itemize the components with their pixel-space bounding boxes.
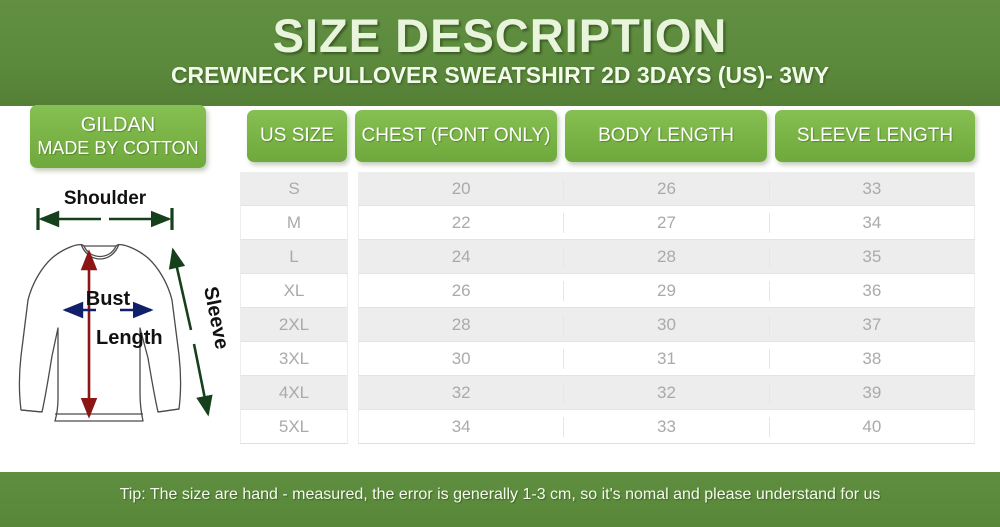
cell-sleeve-length: 33 (769, 179, 974, 199)
cell-chest: 34 (359, 417, 563, 437)
table-row: XL (240, 274, 348, 308)
footer-band: Tip: The size are hand - measured, the e… (0, 472, 1000, 527)
column-header-sleeve-length: SLEEVE LENGTH (775, 110, 975, 162)
sleeve-measure: Sleeve (173, 250, 233, 414)
cell-size: L (241, 247, 347, 267)
page-title: SIZE DESCRIPTION (0, 8, 1000, 63)
bust-label: Bust (86, 288, 131, 310)
cell-body-length: 32 (563, 383, 768, 403)
cell-body-length: 28 (563, 247, 768, 267)
sleeve-label: Sleeve (199, 285, 233, 351)
cell-size: 3XL (241, 349, 347, 369)
table-row: 24 28 35 (358, 240, 975, 274)
cell-sleeve-length: 39 (769, 383, 974, 403)
table-row: 32 32 39 (358, 376, 975, 410)
cell-chest: 32 (359, 383, 563, 403)
cell-size: 2XL (241, 315, 347, 335)
table-row: 5XL (240, 410, 348, 444)
column-header-chest: CHEST (FONT ONLY) (355, 110, 557, 162)
cell-chest: 28 (359, 315, 563, 335)
cell-body-length: 31 (563, 349, 768, 369)
size-column: S M L XL 2XL 3XL 4XL 5XL (240, 172, 348, 444)
length-label: Length (96, 327, 163, 349)
cell-size: 4XL (241, 383, 347, 403)
cell-size: XL (241, 281, 347, 301)
cell-chest: 20 (359, 179, 563, 199)
cell-body-length: 29 (563, 281, 768, 301)
table-row: 34 33 40 (358, 410, 975, 444)
page-subtitle: CREWNECK PULLOVER SWEATSHIRT 2D 3DAYS (U… (0, 62, 1000, 89)
cell-sleeve-length: 37 (769, 315, 974, 335)
footer-tip-text: Tip: The size are hand - measured, the e… (0, 486, 1000, 504)
brand-name: GILDAN (81, 113, 155, 137)
table-row: 30 31 38 (358, 342, 975, 376)
measurement-columns: 20 26 33 22 27 34 24 28 35 26 29 36 28 3… (358, 172, 975, 444)
brand-material: MADE BY COTTON (37, 138, 198, 160)
garment-diagram: Shoulder Length Bust Sleeve (8, 188, 240, 443)
table-row: M (240, 206, 348, 240)
column-header-us-size: US SIZE (247, 110, 347, 162)
table-row: S (240, 172, 348, 206)
header-band: SIZE DESCRIPTION CREWNECK PULLOVER SWEAT… (0, 0, 1000, 106)
shoulder-label: Shoulder (64, 188, 147, 209)
cell-sleeve-length: 35 (769, 247, 974, 267)
cell-body-length: 26 (563, 179, 768, 199)
table-row: 26 29 36 (358, 274, 975, 308)
cell-sleeve-length: 40 (769, 417, 974, 437)
column-header-body-length: BODY LENGTH (565, 110, 767, 162)
cell-size: 5XL (241, 417, 347, 437)
table-row: 20 26 33 (358, 172, 975, 206)
cell-body-length: 30 (563, 315, 768, 335)
cell-chest: 24 (359, 247, 563, 267)
cell-sleeve-length: 34 (769, 213, 974, 233)
cell-body-length: 33 (563, 417, 768, 437)
cell-chest: 30 (359, 349, 563, 369)
brand-tab: GILDAN MADE BY COTTON (30, 105, 206, 168)
sweatshirt-illustration: Shoulder Length Bust Sleeve (8, 188, 240, 443)
table-row: 4XL (240, 376, 348, 410)
cell-chest: 26 (359, 281, 563, 301)
table-row: 28 30 37 (358, 308, 975, 342)
cell-body-length: 27 (563, 213, 768, 233)
size-chart-page: SIZE DESCRIPTION CREWNECK PULLOVER SWEAT… (0, 0, 1000, 527)
table-row: 2XL (240, 308, 348, 342)
table-row: 22 27 34 (358, 206, 975, 240)
cell-size: S (241, 179, 347, 199)
table-row: 3XL (240, 342, 348, 376)
table-row: L (240, 240, 348, 274)
cell-chest: 22 (359, 213, 563, 233)
cell-sleeve-length: 36 (769, 281, 974, 301)
cell-size: M (241, 213, 347, 233)
cell-sleeve-length: 38 (769, 349, 974, 369)
shoulder-measure: Shoulder (38, 188, 172, 230)
